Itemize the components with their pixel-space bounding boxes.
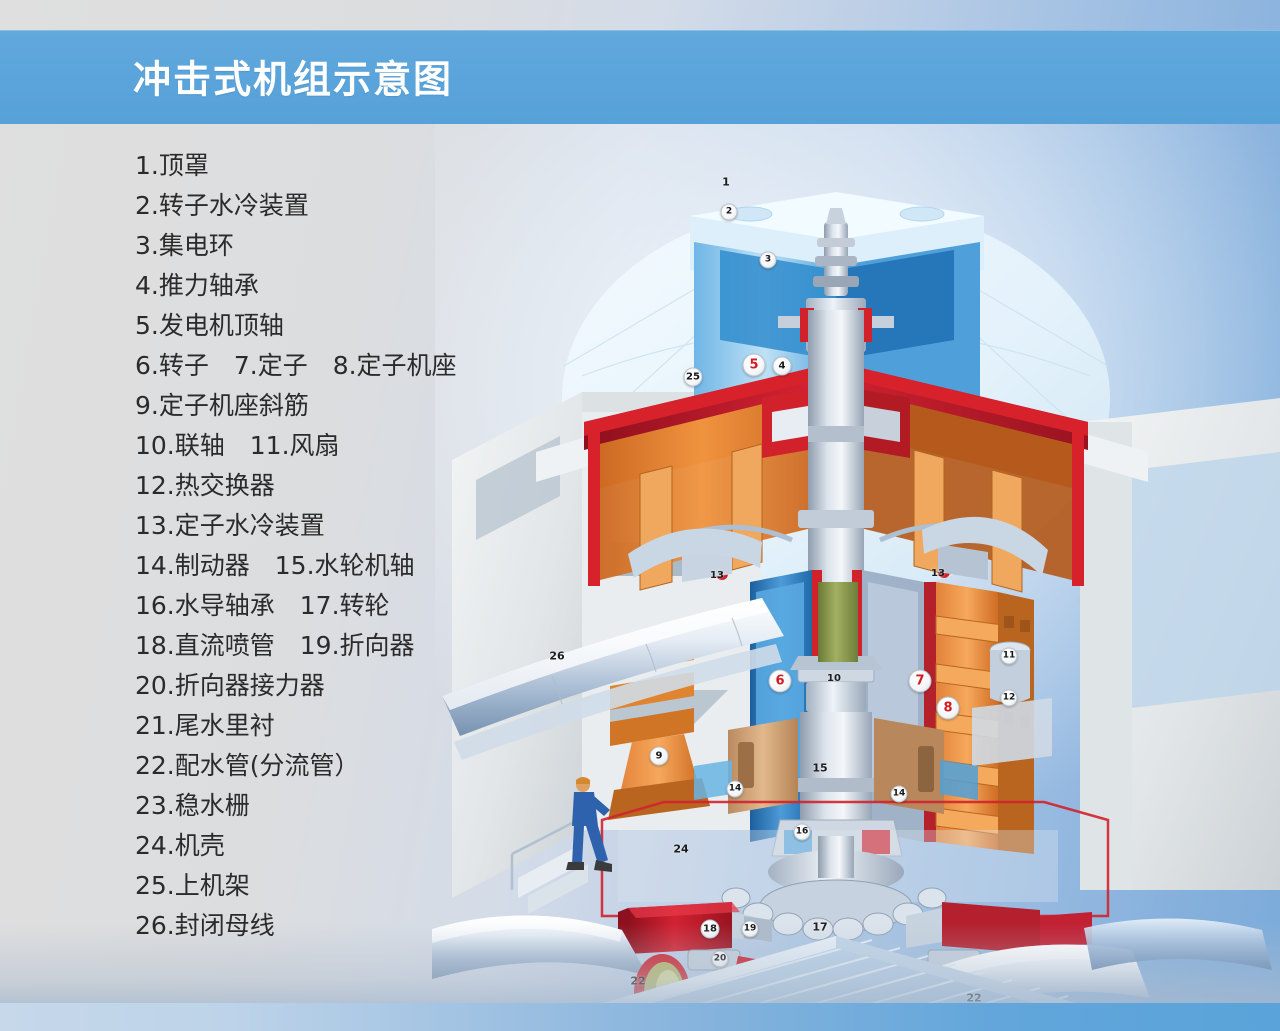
parts-legend-list: 1.顶罩2.转子水冷装置3.集电环4.推力轴承5.发电机顶轴6.转子 7.定子 … (135, 146, 535, 946)
callout-8: 8 (937, 696, 960, 719)
callout-16: 16 (794, 824, 811, 841)
callout-4: 4 (773, 357, 792, 376)
legend-row: 25.上机架 (135, 866, 535, 906)
legend-row: 5.发电机顶轴 (135, 306, 535, 346)
legend-row: 13.定子水冷装置 (135, 506, 535, 546)
legend-row: 20.折向器接力器 (135, 666, 535, 706)
callout-6: 6 (769, 670, 792, 693)
callout-25: 25 (684, 368, 703, 387)
callout-2: 2 (721, 204, 738, 221)
legend-row: 22.配水管(分流管） (135, 746, 535, 786)
title-banner: 冲击式机组示意图 (0, 30, 1280, 124)
legend-row: 9.定子机座斜筋 (135, 386, 535, 426)
legend-row: 6.转子 7.定子 8.定子机座 (135, 346, 535, 386)
legend-row: 10.联轴 11.风扇 (135, 426, 535, 466)
legend-row: 26.封闭母线 (135, 906, 535, 946)
callout-13: 13 (710, 571, 724, 581)
legend-row: 16.水导轴承 17.转轮 (135, 586, 535, 626)
legend-row: 4.推力轴承 (135, 266, 535, 306)
callout-14: 14 (891, 786, 908, 803)
callout-1: 1 (722, 177, 730, 188)
callout-13: 13 (931, 569, 945, 579)
turbine-cutaway-svg (432, 130, 1280, 1031)
legend-row: 21.尾水里衬 (135, 706, 535, 746)
background-bottom-strip (0, 1003, 1280, 1031)
callout-14: 14 (727, 781, 744, 798)
callout-10: 10 (827, 674, 841, 684)
legend-row: 1.顶罩 (135, 146, 535, 186)
callout-26: 26 (549, 651, 564, 662)
callout-12: 12 (1000, 690, 1017, 707)
legend-row: 12.热交换器 (135, 466, 535, 506)
legend-row: 18.直流喷管 19.折向器 (135, 626, 535, 666)
callout-7: 7 (909, 670, 932, 693)
legend-row: 24.机壳 (135, 826, 535, 866)
callout-5: 5 (743, 354, 766, 377)
legend-row: 2.转子水冷装置 (135, 186, 535, 226)
slide-canvas: 1234567891011121313141415161718192021222… (0, 0, 1280, 1031)
turbine-illustration: 1234567891011121313141415161718192021222… (432, 130, 1280, 1031)
legend-row: 23.稳水栅 (135, 786, 535, 826)
callout-9: 9 (650, 747, 669, 766)
callout-15: 15 (812, 763, 827, 774)
callout-24: 24 (673, 844, 688, 855)
callout-3: 3 (760, 252, 777, 269)
callout-11: 11 (1000, 648, 1017, 665)
legend-row: 14.制动器 15.水轮机轴 (135, 546, 535, 586)
legend-row: 3.集电环 (135, 226, 535, 266)
page-title: 冲击式机组示意图 (133, 48, 453, 103)
